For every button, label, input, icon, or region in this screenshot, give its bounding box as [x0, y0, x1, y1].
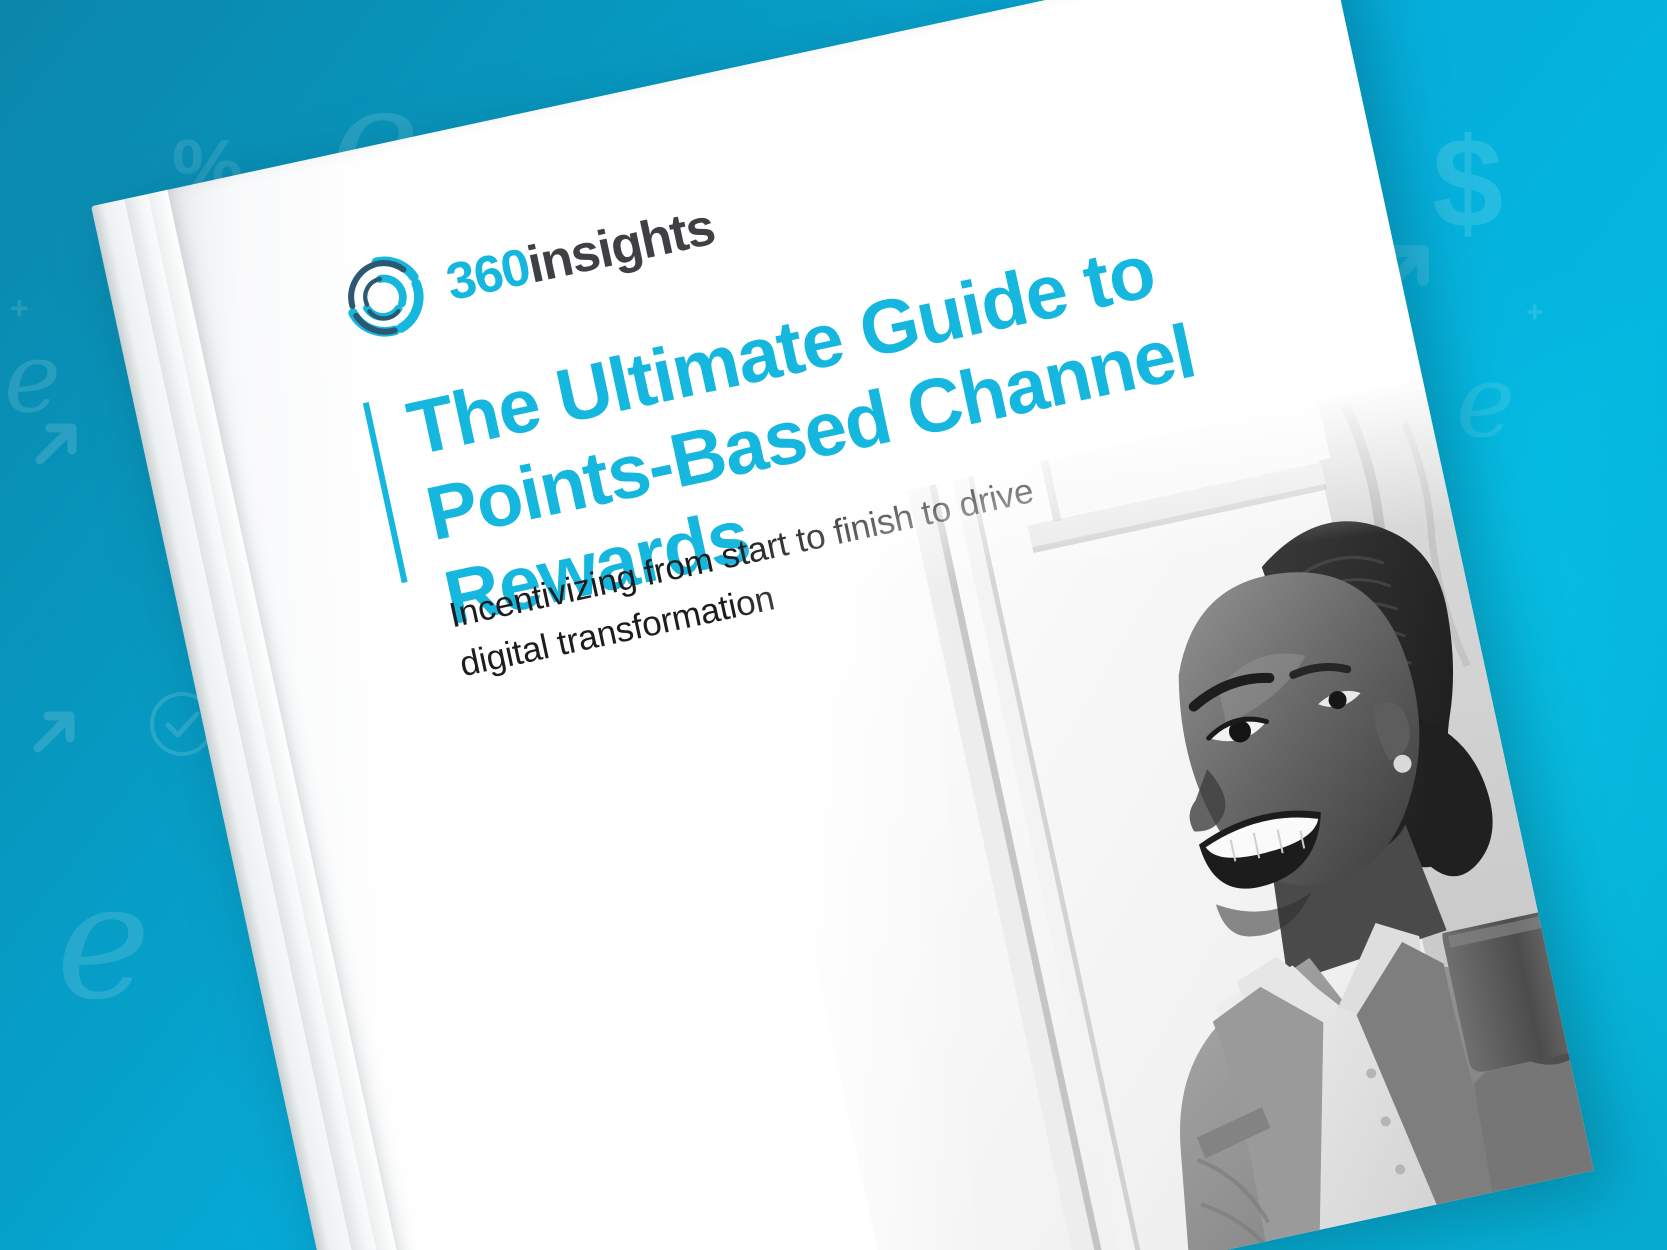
360insights-ring-logo-icon — [333, 246, 435, 348]
wordmark: 360insights — [441, 197, 719, 313]
arrow-up-right-watermark — [24, 412, 88, 476]
title-accent-bar — [363, 402, 408, 583]
e-glyph-watermark: e — [1456, 352, 1515, 452]
poster-canvas: e % + e e $ + e + e % — [0, 0, 1667, 1250]
brand-logo: 360insights — [333, 184, 722, 348]
wordmark-number: 360 — [441, 238, 534, 312]
arrow-up-right-watermark — [22, 700, 86, 764]
wordmark-word: insights — [522, 198, 719, 295]
e-glyph-watermark: e — [4, 330, 61, 426]
plus-watermark: + — [10, 292, 29, 324]
dollar-watermark: $ — [1432, 120, 1503, 248]
plus-watermark: + — [1526, 298, 1544, 328]
cover-front: 360insights /// ebook — [167, 0, 1593, 1250]
ebook-cover: 360insights /// ebook — [91, 0, 1594, 1250]
e-glyph-watermark: e — [56, 862, 151, 1022]
